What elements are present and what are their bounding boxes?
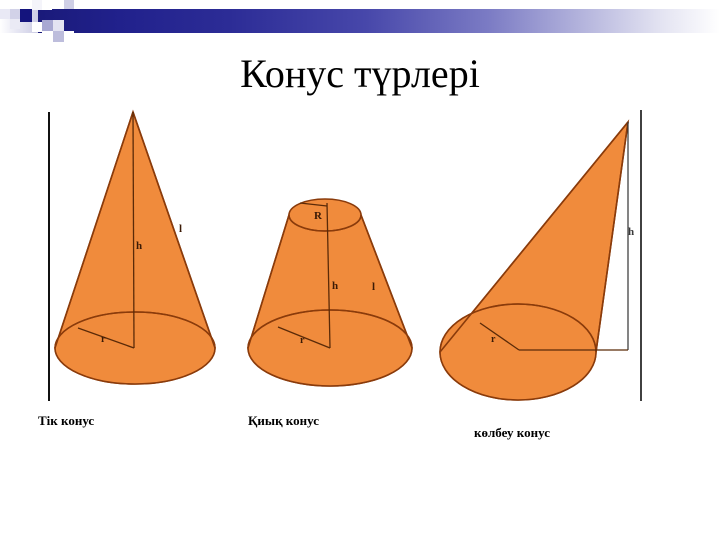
slide-canvas: Конус түрлері h l r xyxy=(0,0,720,540)
figure-right-cone: h l r xyxy=(49,112,215,401)
label-h: h xyxy=(628,226,634,238)
caption-truncated-cone: Қиық конус xyxy=(248,413,319,429)
label-h: h xyxy=(136,240,142,252)
caption-oblique-cone: көлбеу конус xyxy=(474,425,550,441)
figure-oblique-cone: h r xyxy=(440,110,641,401)
figure-group: h l r R xyxy=(0,0,720,540)
label-R: R xyxy=(314,210,323,222)
figure-truncated-cone: R h l r xyxy=(248,199,412,386)
label-r: r xyxy=(300,335,305,346)
caption-right-cone: Тік конус xyxy=(38,413,94,429)
label-l: l xyxy=(372,281,375,293)
label-r: r xyxy=(101,334,106,345)
label-r: r xyxy=(491,334,496,345)
label-l: l xyxy=(179,223,182,235)
label-h: h xyxy=(332,280,338,292)
